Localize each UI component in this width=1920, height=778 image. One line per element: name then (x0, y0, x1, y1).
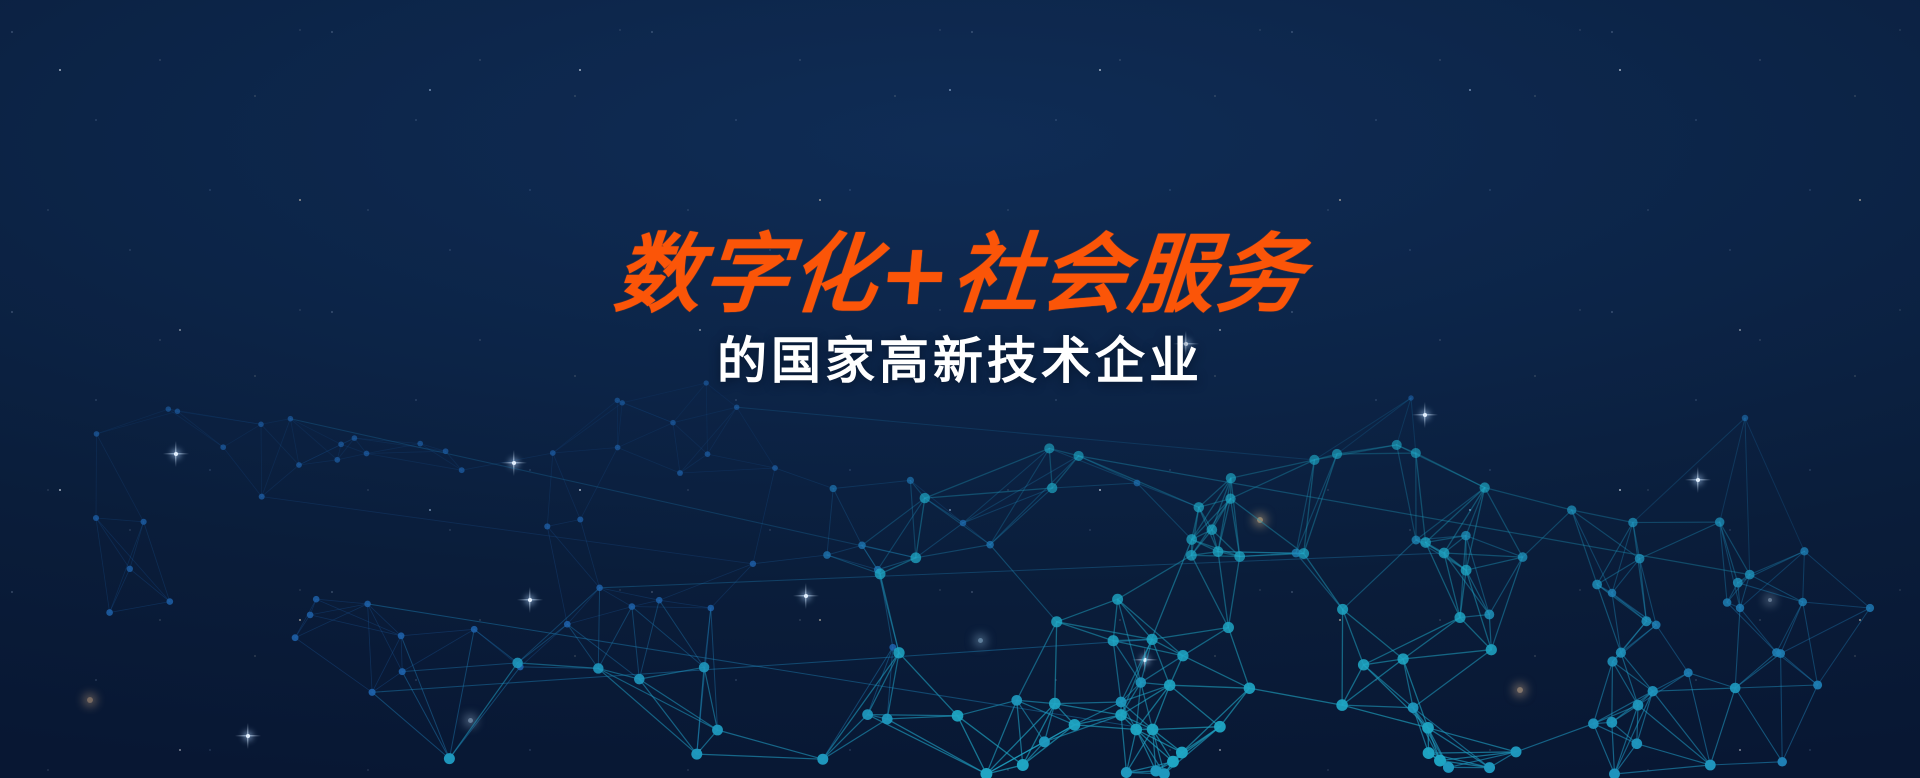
banner-copy: 数字化+社会服务 的国家高新技术企业 (0, 0, 1920, 778)
banner-headline: 数字化+社会服务 (611, 232, 1309, 318)
banner-subtitle: 的国家高新技术企业 (717, 336, 1203, 386)
hero-banner: 数字化+社会服务 的国家高新技术企业 (0, 0, 1920, 778)
